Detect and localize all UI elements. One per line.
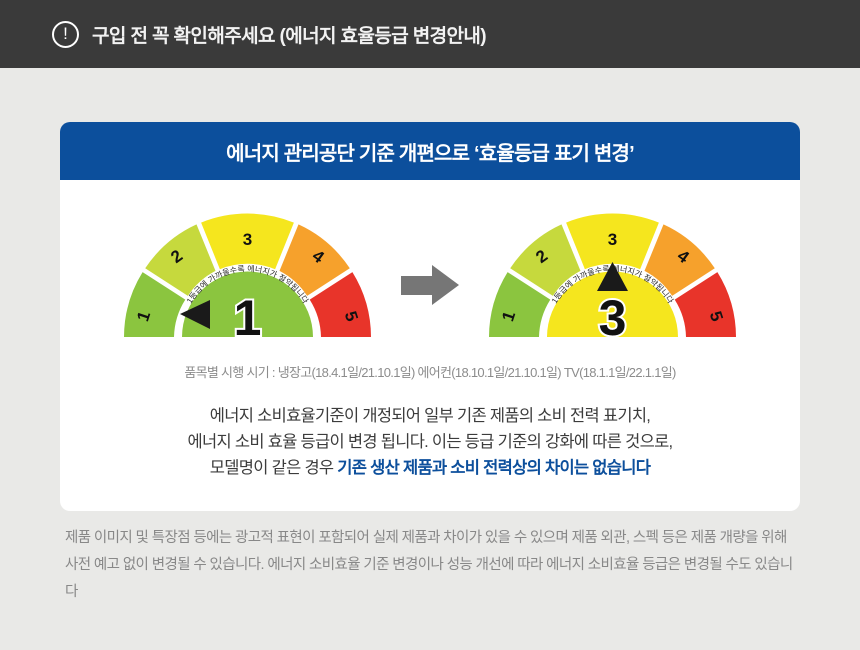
gauge-before-grade: 1 [234, 290, 262, 343]
page-header: ! 구입 전 꼭 확인해주세요 (에너지 효율등급 변경안내) [0, 0, 860, 68]
gauge-after-graphic: 1 2 3 4 5 1등급에 가까울수록 에너지가 절약됩니다 3 [485, 211, 740, 343]
card-banner-title: 에너지 관리공단 기준 개편으로 ‘효율등급 표기 변경’ [226, 137, 634, 166]
notice-paragraph-line-3-plain: 모델명이 같은 경우 [210, 459, 338, 477]
gauge-after: 1 2 3 4 5 1등급에 가까울수록 에너지가 절약됩니다 3 [485, 211, 740, 343]
arrow-shaft [401, 276, 435, 295]
notice-paragraph: 에너지 소비효율기준이 개정되어 일부 기존 제품의 소비 전력 표기치, 에너… [60, 403, 800, 481]
exclamation-circle-icon: ! [52, 21, 79, 48]
exclamation-glyph: ! [63, 25, 68, 42]
arrow-head [432, 265, 459, 305]
gauge-before: 1 2 3 4 5 1등급에 가까울수록 에너지가 절약됩니다 1 [120, 211, 375, 343]
notice-paragraph-highlight: 기존 생산 제품과 소비 전력상의 차이는 없습니다 [337, 459, 650, 477]
notice-card: 에너지 관리공단 기준 개편으로 ‘효율등급 표기 변경’ [60, 122, 800, 511]
gauge-comparison-row: 1 2 3 4 5 1등급에 가까울수록 에너지가 절약됩니다 1 [60, 202, 800, 352]
disclaimer-text: 제품 이미지 및 특장점 등에는 광고적 표현이 포함되어 실제 제품과 차이가… [65, 525, 795, 606]
notice-paragraph-line-1: 에너지 소비효율기준이 개정되어 일부 기존 제품의 소비 전력 표기치, [60, 403, 800, 429]
gauge-after-label-3: 3 [608, 230, 617, 249]
schedule-note: 품목별 시행 시기 : 냉장고(18.4.1일/21.10.1일) 에어컨(18… [60, 362, 800, 381]
notice-paragraph-line-2: 에너지 소비 효율 등급이 변경 됩니다. 이는 등급 기준의 강화에 따른 것… [60, 429, 800, 455]
gauge-after-grade: 3 [599, 290, 627, 343]
page-title: 구입 전 꼭 확인해주세요 (에너지 효율등급 변경안내) [92, 21, 486, 48]
right-arrow-icon [401, 265, 459, 305]
card-body: 1 2 3 4 5 1등급에 가까울수록 에너지가 절약됩니다 1 [60, 180, 800, 511]
notice-paragraph-line-3: 모델명이 같은 경우 기존 생산 제품과 소비 전력상의 차이는 없습니다 [60, 455, 800, 481]
card-banner: 에너지 관리공단 기준 개편으로 ‘효율등급 표기 변경’ [60, 122, 800, 180]
gauge-before-label-3: 3 [243, 230, 252, 249]
gauge-before-graphic: 1 2 3 4 5 1등급에 가까울수록 에너지가 절약됩니다 1 [120, 211, 375, 343]
